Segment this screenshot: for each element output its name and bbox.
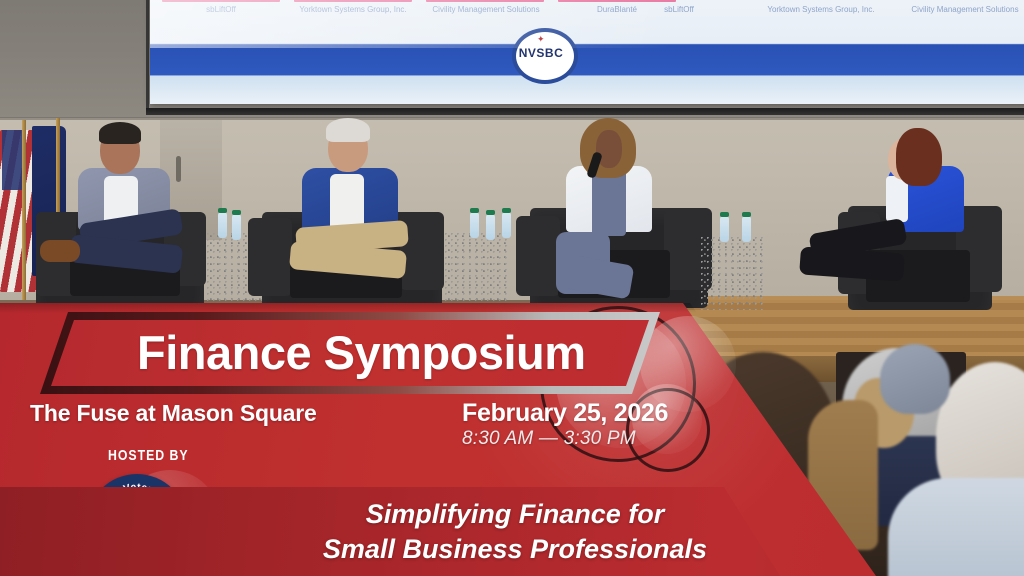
- wall-seam: [0, 117, 1024, 120]
- armchair-arm: [516, 216, 560, 296]
- panelist-shoe: [40, 240, 80, 262]
- water-bottle: [502, 212, 511, 238]
- bottle-cap: [218, 208, 227, 213]
- event-poster: Sharon Heaton sbLiftOff Bryan Dyer Yorkt…: [0, 0, 1024, 576]
- door-handle: [176, 156, 181, 182]
- screen-glare: [150, 0, 1024, 48]
- event-tagline: Simplifying Finance for Small Business P…: [300, 497, 730, 567]
- flag-pole: [22, 120, 26, 315]
- water-bottle: [720, 216, 729, 242]
- water-bottle: [486, 214, 495, 240]
- armchair-arm: [400, 212, 444, 290]
- panelist-hair: [896, 128, 942, 186]
- bottle-cap: [720, 212, 729, 217]
- event-date: February 25, 2026: [462, 399, 668, 428]
- slide-logo-text: NVSBC: [512, 46, 570, 60]
- event-time: 8:30 AM — 3:30 PM: [462, 428, 636, 450]
- bottle-cap: [502, 208, 511, 213]
- bottle-cap: [232, 210, 241, 215]
- panelist-hair: [99, 122, 141, 144]
- screen-ledge: [146, 108, 1024, 115]
- water-bottle: [218, 212, 227, 238]
- bottle-cap: [486, 210, 495, 215]
- side-table: [444, 232, 510, 310]
- bottle-cap: [742, 212, 751, 217]
- water-bottle: [470, 212, 479, 238]
- bottle-cap: [470, 208, 479, 213]
- venue-name: The Fuse at Mason Square: [30, 400, 317, 427]
- water-bottle: [232, 214, 241, 240]
- audience-shoulders: [888, 478, 1024, 576]
- side-table: [700, 236, 764, 310]
- hosted-by-label: HOSTED BY: [108, 447, 189, 464]
- water-bottle: [742, 216, 751, 242]
- audience-head: [880, 344, 950, 414]
- panelist-hair: [326, 118, 370, 142]
- armchair-arm: [248, 218, 292, 296]
- tagline-line-2: Small Business Professionals: [300, 532, 730, 567]
- page-title: Finance Symposium: [137, 322, 697, 384]
- tagline-line-1: Simplifying Finance for: [300, 497, 730, 532]
